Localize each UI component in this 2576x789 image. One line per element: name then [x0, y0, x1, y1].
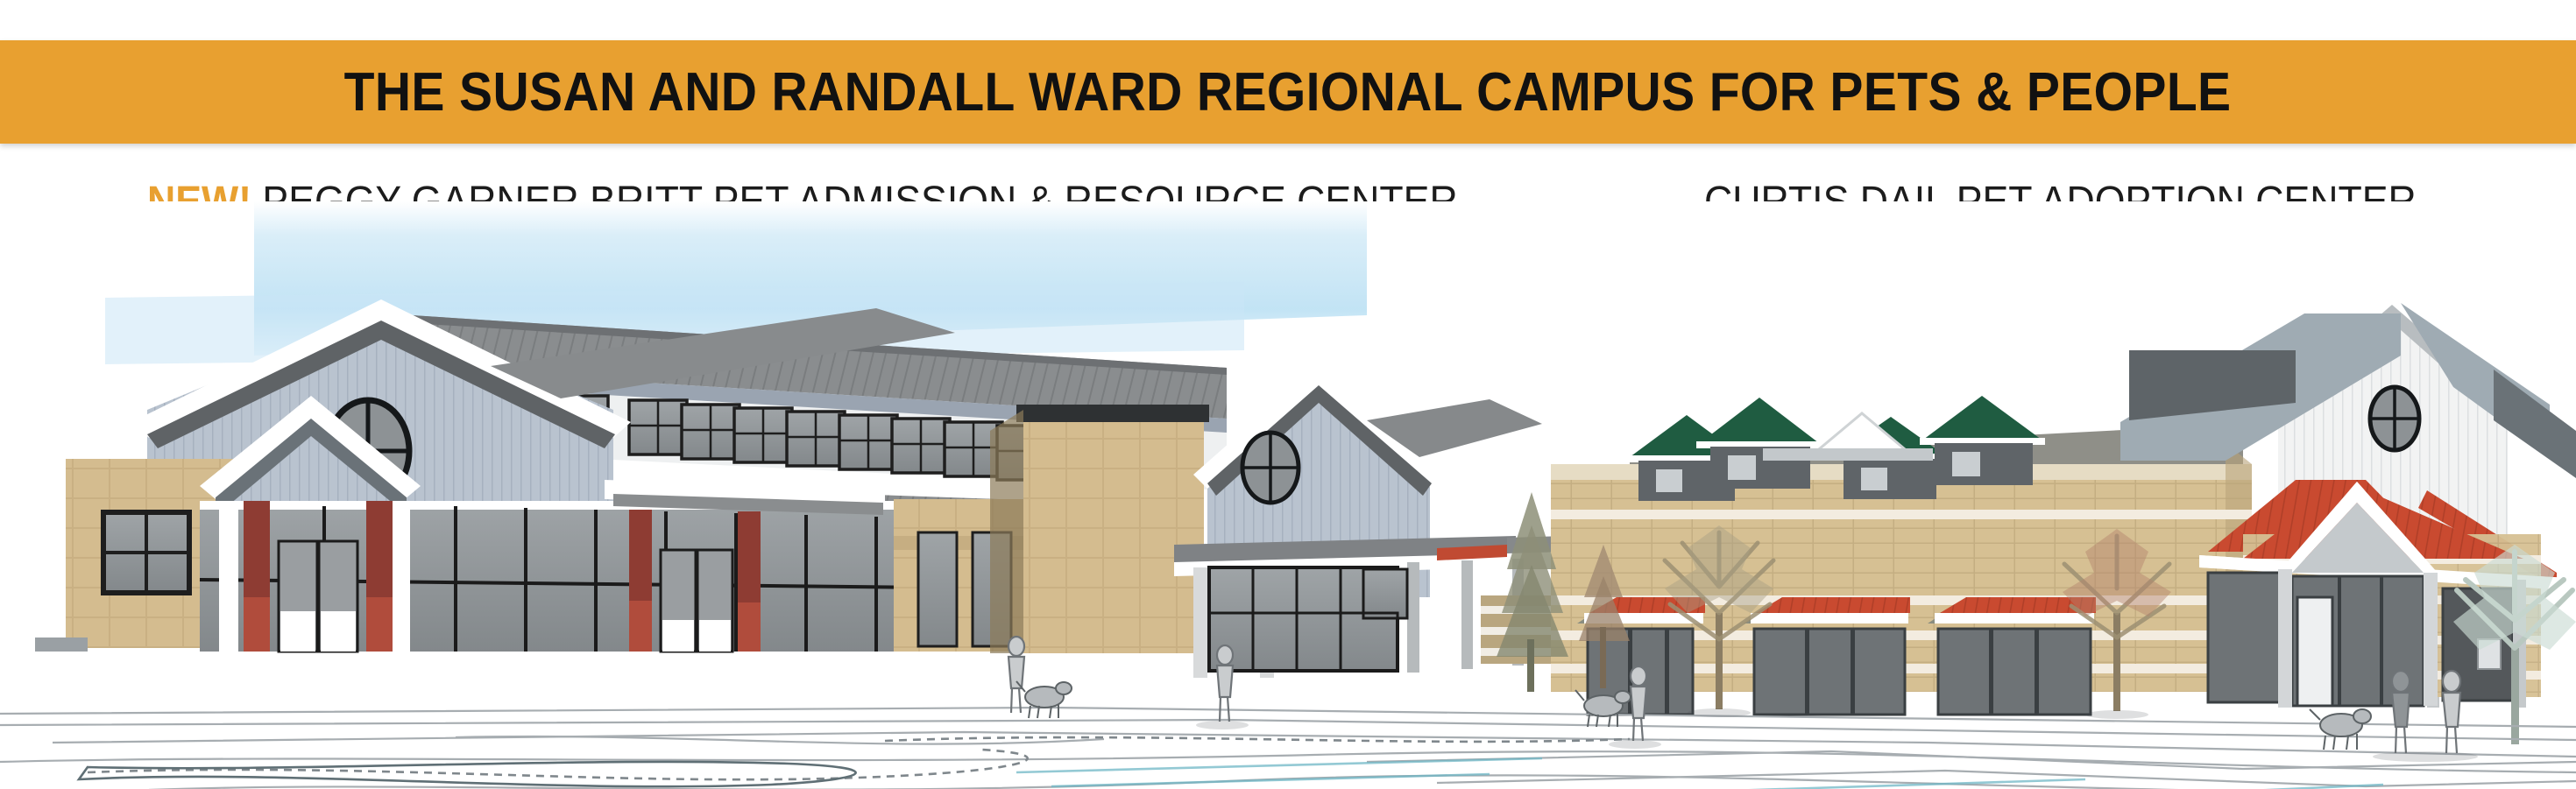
campus-rendering-illustration — [0, 201, 2576, 789]
window-tan-wing — [103, 512, 189, 593]
campus-title-banner: THE SUSAN AND RANDALL WARD REGIONAL CAMP… — [0, 40, 2576, 144]
kennel-awnings — [1577, 597, 2096, 715]
entry-doors-east — [661, 550, 732, 652]
entry-doors-west — [279, 541, 357, 652]
rendering-page: THE SUSAN AND RANDALL WARD REGIONAL CAMP… — [0, 0, 2576, 789]
oval-window-right-gable — [1242, 433, 1299, 503]
oval-window-adoption-gable — [2370, 387, 2419, 450]
banner-title: THE SUSAN AND RANDALL WARD REGIONAL CAMP… — [344, 61, 2232, 123]
